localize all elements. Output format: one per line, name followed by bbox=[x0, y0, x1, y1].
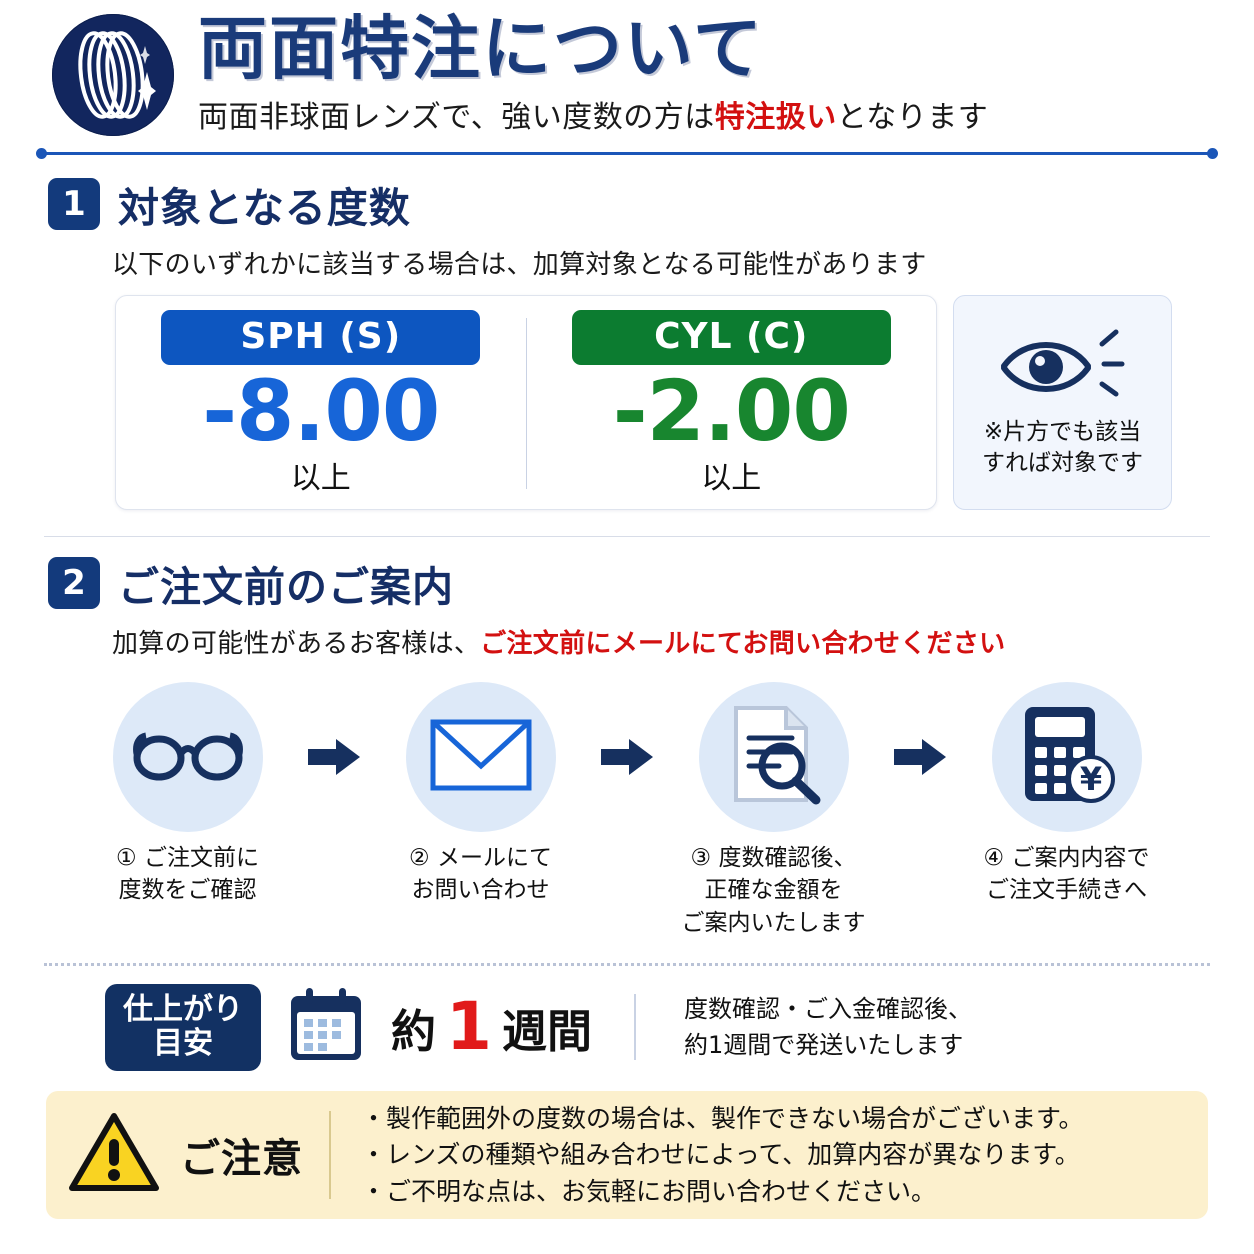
note-line-2: すれば対象です bbox=[982, 448, 1143, 479]
caution-bullet-2: ・レンズの種類や組み合わせによって、加算内容が異なります。 bbox=[361, 1138, 1084, 1172]
delivery-note: 度数確認・ご入金確認後、 約1週間で発送いたします bbox=[684, 991, 972, 1063]
eligibility-note-box: ※片方でも該当 すれば対象です bbox=[953, 295, 1172, 510]
step-4-label: ④ ご案内内容で ご注文手続きへ bbox=[984, 842, 1150, 906]
caution-title: ご注意 bbox=[180, 1126, 303, 1184]
caution-bullet-3: ・ご不明な点は、お気軽にお問い合わせください。 bbox=[361, 1175, 1084, 1209]
lens-logo-icon bbox=[52, 14, 174, 136]
delivery-tag: 仕上がり 目安 bbox=[105, 984, 261, 1071]
rule-dot-right bbox=[1207, 148, 1218, 159]
section1-description: 以下のいずれかに該当する場合は、加算対象となる可能性があります bbox=[112, 244, 1224, 281]
caution-bullet-1: ・製作範囲外の度数の場合は、製作できない場合がございます。 bbox=[361, 1102, 1084, 1136]
delivery-number: 1 bbox=[446, 994, 492, 1060]
step-1-icon-circle bbox=[113, 682, 263, 832]
spec-card-group: SPH (S) -8.00 以上 CYL (C) -2.00 以上 bbox=[115, 295, 937, 510]
steps-flow: ① ご注文前に 度数をご確認 ② メールにて お問い合わせ bbox=[60, 682, 1194, 939]
document-search-icon bbox=[724, 704, 824, 811]
cyl-suffix: 以上 bbox=[701, 453, 761, 497]
warning-triangle-icon bbox=[68, 1111, 160, 1198]
section1-title: 対象となる度数 bbox=[118, 174, 411, 234]
step-4: ¥ ④ ご案内内容で ご注文手続きへ bbox=[959, 682, 1174, 906]
page-subtitle: 両面非球面レンズで、強い度数の方は特注扱いとなります bbox=[198, 92, 1224, 136]
step-3: ③ 度数確認後、 正確な金額を ご案内いたします bbox=[666, 682, 881, 939]
delivery-row: 仕上がり 目安 約 1 週間 度数確認・ご入金確認後、 約1週間で発送いたします bbox=[105, 984, 1224, 1071]
subtitle-pre: 両面非球面レンズで、強い度数の方は bbox=[198, 100, 715, 135]
caution-box: ご注意 ・製作範囲外の度数の場合は、製作できない場合がございます。 ・レンズの種… bbox=[46, 1091, 1208, 1219]
section2-description: 加算の可能性があるお客様は、ご注文前にメールにてお問い合わせください bbox=[112, 623, 1224, 660]
subtitle-post: となります bbox=[837, 100, 989, 135]
calendar-icon bbox=[287, 986, 365, 1069]
spec-row: SPH (S) -8.00 以上 CYL (C) -2.00 以上 bbox=[115, 295, 1172, 510]
svg-text:¥: ¥ bbox=[1079, 760, 1101, 798]
sph-value: -8.00 bbox=[202, 367, 439, 455]
cyl-pill-label: CYL (C) bbox=[572, 310, 891, 365]
spec-card-cyl: CYL (C) -2.00 以上 bbox=[527, 310, 937, 497]
envelope-icon bbox=[429, 716, 533, 799]
step-2-label: ② メールにて お問い合わせ bbox=[409, 842, 552, 906]
step-3-icon-circle bbox=[699, 682, 849, 832]
glasses-icon bbox=[132, 727, 244, 788]
subtitle-emphasis: 特注扱い bbox=[715, 100, 837, 135]
section2-title: ご注文前のご案内 bbox=[118, 553, 454, 613]
rule-line bbox=[44, 152, 1210, 155]
step-3-label: ③ 度数確認後、 正確な金額を ご案内いたします bbox=[682, 842, 866, 939]
infographic-page: 両面特注について 両面非球面レンズで、強い度数の方は特注扱いとなります 1 対象… bbox=[0, 0, 1254, 1254]
section1-header: 1 対象となる度数 bbox=[48, 174, 1224, 234]
spec-card-sph: SPH (S) -8.00 以上 bbox=[116, 310, 526, 497]
cyl-value: -2.00 bbox=[613, 367, 850, 455]
header-text: 両面特注について 両面非球面レンズで、強い度数の方は特注扱いとなります bbox=[198, 14, 1224, 135]
delivery-tag-line-2: 目安 bbox=[123, 1027, 243, 1062]
step-1: ① ご注文前に 度数をご確認 bbox=[80, 682, 295, 906]
arrow-right-icon-1 bbox=[299, 682, 369, 777]
caution-bullets: ・製作範囲外の度数の場合は、製作できない場合がございます。 ・レンズの種類や組み… bbox=[361, 1102, 1084, 1209]
step-1-label: ① ご注文前に 度数をご確認 bbox=[116, 842, 259, 906]
step-4-icon-circle: ¥ bbox=[992, 682, 1142, 832]
delivery-duration: 約 1 週間 bbox=[391, 994, 592, 1060]
section2-desc-emphasis: ご注文前にメールにてお問い合わせください bbox=[480, 629, 1005, 659]
note-line-1: ※片方でも該当 bbox=[982, 417, 1143, 448]
page-title: 両面特注について bbox=[198, 14, 1224, 85]
delivery-approx: 約 bbox=[391, 995, 436, 1060]
arrow-right-icon-3 bbox=[885, 682, 955, 777]
section1-number-badge: 1 bbox=[48, 178, 100, 230]
delivery-tag-line-1: 仕上がり bbox=[123, 993, 243, 1028]
caution-divider bbox=[329, 1111, 331, 1199]
header-rule bbox=[36, 148, 1218, 158]
delivery-divider bbox=[634, 994, 636, 1060]
section-divider-1 bbox=[44, 536, 1210, 537]
arrow-right-icon-2 bbox=[592, 682, 662, 777]
calculator-yen-icon: ¥ bbox=[1017, 703, 1117, 812]
sph-pill-label: SPH (S) bbox=[161, 310, 480, 365]
eligibility-note-text: ※片方でも該当 すれば対象です bbox=[982, 417, 1143, 479]
section2-desc-pre: 加算の可能性があるお客様は、 bbox=[112, 629, 480, 659]
step-2-icon-circle bbox=[406, 682, 556, 832]
section-divider-2 bbox=[44, 963, 1210, 966]
step-2: ② メールにて お問い合わせ bbox=[373, 682, 588, 906]
header: 両面特注について 両面非球面レンズで、強い度数の方は特注扱いとなります bbox=[30, 0, 1224, 136]
eye-icon bbox=[998, 326, 1128, 407]
section2-number-badge: 2 bbox=[48, 557, 100, 609]
sph-suffix: 以上 bbox=[291, 453, 351, 497]
section2-header: 2 ご注文前のご案内 bbox=[48, 553, 1224, 613]
delivery-unit: 週間 bbox=[502, 995, 592, 1060]
